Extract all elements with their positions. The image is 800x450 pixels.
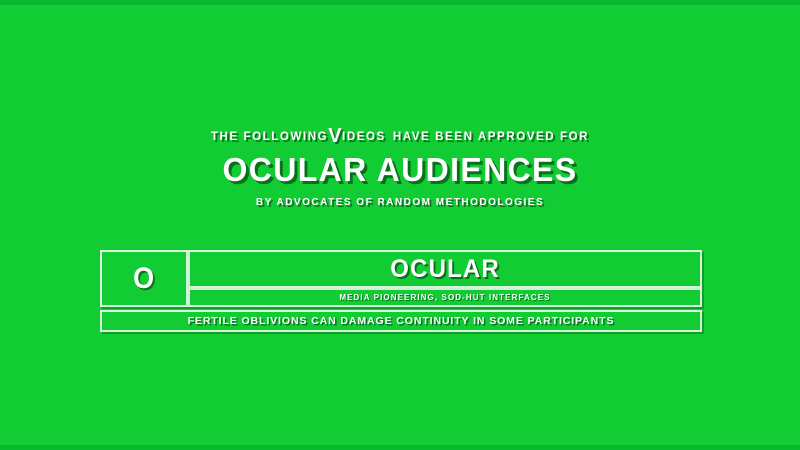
rating-letter: O (133, 264, 154, 294)
authority-line: BY ADVOCATES OF RANDOM METHODOLOGIES (0, 196, 800, 210)
approval-statement: THE FOLLOWINGVIDEOSHAVE BEEN APPROVED FO… (0, 128, 800, 146)
rating-warning: FERTILE OBLIVIONS CAN DAMAGE CONTINUITY … (188, 315, 615, 327)
rating-title: OCULAR (390, 256, 500, 282)
main-heading: OCULAR AUDIENCES (12, 151, 788, 189)
approval-big-letter: V (328, 125, 342, 147)
rating-card: O OCULAR MEDIA PIONEERING, SOD-HUT INTER… (100, 250, 702, 332)
approval-tail: HAVE BEEN APPROVED FOR (393, 131, 589, 143)
approval-prefix: THE FOLLOWING (211, 131, 328, 143)
letterbox-top-bar (0, 0, 800, 5)
letterbox-bottom-bar (0, 445, 800, 450)
rating-warning-cell: FERTILE OBLIVIONS CAN DAMAGE CONTINUITY … (100, 310, 702, 332)
rating-letter-cell: O (100, 250, 188, 307)
rating-descriptor: MEDIA PIONEERING, SOD-HUT INTERFACES (339, 293, 550, 303)
rating-title-cell: OCULAR (188, 250, 702, 288)
rating-descriptor-cell: MEDIA PIONEERING, SOD-HUT INTERFACES (188, 288, 702, 307)
rating-screen: THE FOLLOWINGVIDEOSHAVE BEEN APPROVED FO… (0, 0, 800, 450)
approval-suffix: IDEOS (342, 131, 386, 143)
heading-block: THE FOLLOWINGVIDEOSHAVE BEEN APPROVED FO… (0, 128, 800, 210)
